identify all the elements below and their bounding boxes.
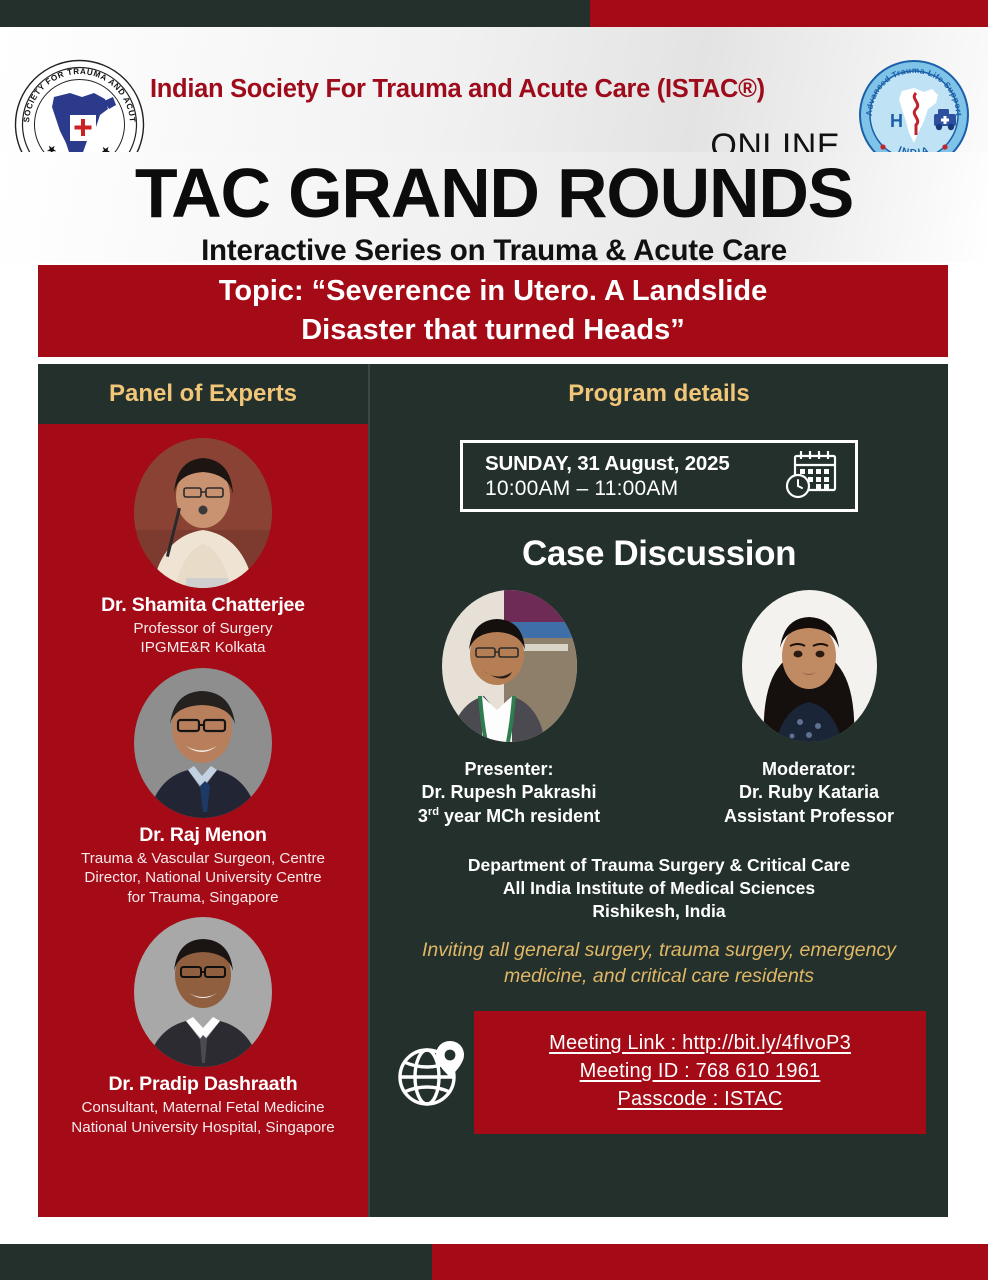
presenter-detail-suffix: year MCh resident [439,806,600,826]
meeting-link[interactable]: Meeting Link : http://bit.ly/4fIvoP3 [484,1032,916,1055]
invitation-text: Inviting all general surgery, trauma sur… [370,938,948,989]
presenter-detail-superscript: rd [428,806,439,818]
moderator-name: Dr. Ruby Kataria [714,781,904,804]
meeting-id[interactable]: Meeting ID : 768 610 1961 [484,1060,916,1083]
bottom-decorative-bar [0,1244,988,1280]
bottom-bar-red-segment [432,1244,988,1280]
case-people-row: Presenter: Dr. Rupesh Pakrashi 3rd year … [370,590,948,828]
department-line-3: Rishikesh, India [370,900,948,923]
expert-photo-raj-menon [134,668,272,818]
meeting-info-box[interactable]: Meeting Link : http://bit.ly/4fIvoP3 Mee… [474,1011,926,1134]
moderator-card: Moderator: Dr. Ruby Kataria Assistant Pr… [714,590,904,828]
department-block: Department of Trauma Surgery & Critical … [370,854,948,922]
top-bar-red-segment [590,0,988,27]
moderator-role-label: Moderator: [714,758,904,781]
topic-line-1: Topic: “Severence in Utero. A Landslide [219,272,767,311]
schedule-date: SUNDAY, 31 August, 2025 [485,452,730,476]
expert-name: Dr. Pradip Dashraath [46,1073,360,1096]
expert-role-line: Professor of Surgery [46,619,360,638]
presenter-card: Presenter: Dr. Rupesh Pakrashi 3rd year … [414,590,604,828]
expert-role-line: National University Hospital, Singapore [46,1118,360,1137]
organization-title: Indian Society For Trauma and Acute Care… [150,75,850,104]
meeting-details-row: Meeting Link : http://bit.ly/4fIvoP3 Mee… [370,1011,948,1134]
svg-text:H: H [890,111,903,131]
topic-line-2: Disaster that turned Heads” [219,311,767,350]
department-line-1: Department of Trauma Surgery & Critical … [370,854,948,877]
presenter-role-label: Presenter: [414,758,604,781]
presenter-name: Dr. Rupesh Pakrashi [414,781,604,804]
page-subtitle: Interactive Series on Trauma & Acute Car… [0,234,988,268]
expert-name: Dr. Shamita Chatterjee [46,594,360,617]
schedule-time: 10:00AM – 11:00AM [485,477,730,501]
case-discussion-heading: Case Discussion [370,534,948,574]
main-content-panel: Panel of Experts [38,364,948,1217]
presenter-photo-rupesh-pakrashi [442,590,577,742]
expert-photo-shamita-chatterjee [134,438,272,588]
schedule-box: SUNDAY, 31 August, 2025 10:00AM – 11:00A… [460,440,858,512]
expert-role-line: Trauma & Vascular Surgeon, Centre [46,849,360,868]
experts-list: Dr. Shamita Chatterjee Professor of Surg… [38,424,368,1217]
calendar-clock-icon [783,448,839,505]
expert-role-line: for Trauma, Singapore [46,888,360,907]
invitation-line-2: medicine, and critical care residents [392,964,926,989]
expert-card: Dr. Raj Menon Trauma & Vascular Surgeon,… [46,668,360,907]
panel-of-experts-column: Panel of Experts [38,364,368,1217]
top-decorative-bar [0,0,988,27]
department-line-2: All India Institute of Medical Sciences [370,877,948,900]
moderator-detail: Assistant Professor [714,805,904,828]
expert-card: Dr. Pradip Dashraath Consultant, Materna… [46,917,360,1137]
expert-card: Dr. Shamita Chatterjee Professor of Surg… [46,438,360,658]
invitation-line-1: Inviting all general surgery, trauma sur… [392,938,926,963]
title-block: TAC GRAND ROUNDS Interactive Series on T… [0,152,988,262]
topic-banner: Topic: “Severence in Utero. A Landslide … [38,265,948,357]
page-header: INDIAN SOCIETY FOR TRAUMA AND ACUTE CARE… [0,27,988,167]
presenter-detail: 3rd year MCh resident [414,805,604,828]
top-bar-dark-segment [0,0,590,27]
expert-role-line: Director, National University Centre [46,868,360,887]
expert-name: Dr. Raj Menon [46,824,360,847]
moderator-photo-ruby-kataria [742,590,877,742]
expert-role-line: IPGME&R Kolkata [46,638,360,657]
expert-role-line: Consultant, Maternal Fetal Medicine [46,1098,360,1117]
meeting-passcode[interactable]: Passcode : ISTAC [484,1088,916,1111]
bottom-bar-dark-segment [0,1244,432,1280]
page-title: TAC GRAND ROUNDS [0,152,988,228]
expert-photo-pradip-dashraath [134,917,272,1067]
program-details-column: Program details SUNDAY, 31 August, 2025 … [370,364,948,1217]
presenter-detail-prefix: 3 [418,806,428,826]
globe-location-icon [392,1035,468,1111]
program-details-heading: Program details [370,364,948,424]
panel-of-experts-heading: Panel of Experts [38,364,368,424]
